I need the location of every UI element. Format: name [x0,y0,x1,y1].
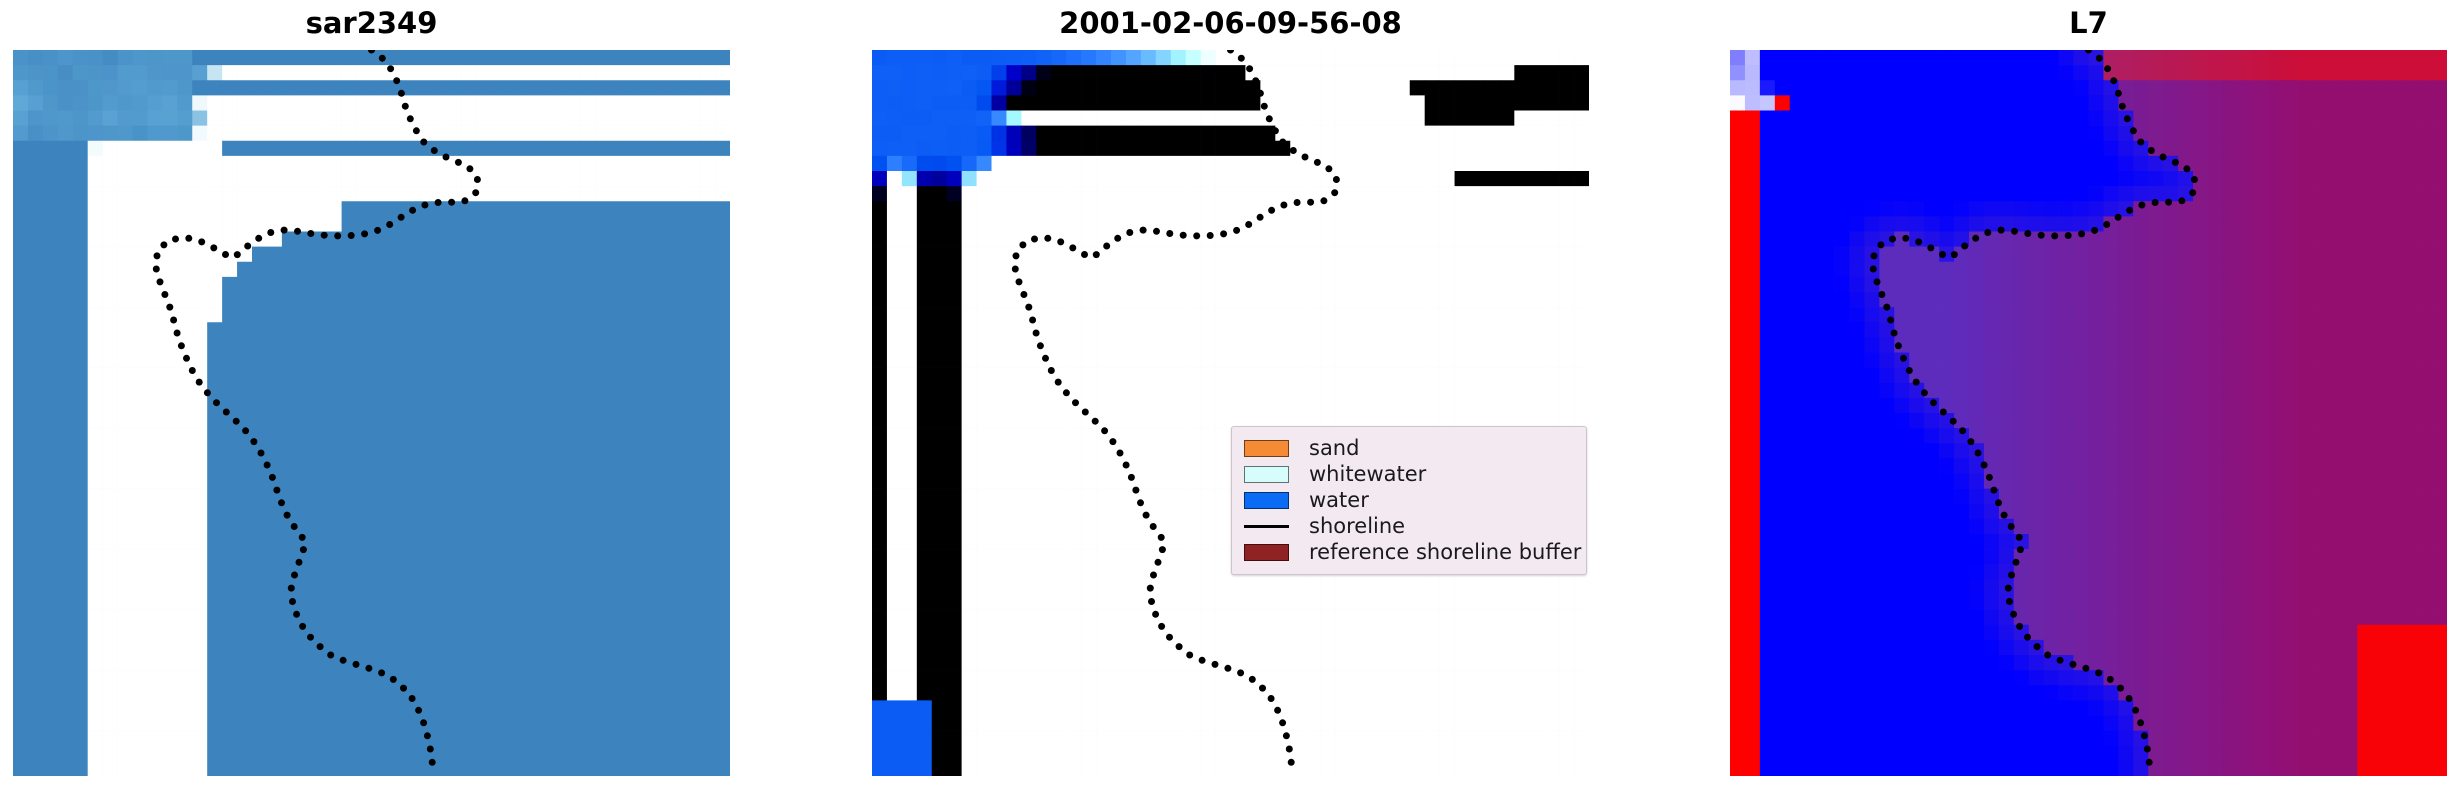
legend-label-shoreline: shoreline [1309,514,1405,538]
image-axes-sar2349 [13,50,730,776]
legend-swatch-whitewater [1244,466,1289,483]
legend-line-glyph [1244,525,1289,528]
image-axes-classified [872,50,1589,776]
panel-title-classified: 2001-02-06-09-56-08 [872,6,1589,40]
legend-swatch-water [1244,492,1289,509]
legend-label-reference-shoreline-buffer: reference shoreline buffer [1309,540,1581,564]
legend-label-water: water [1309,488,1369,512]
legend-item-shoreline: shoreline [1244,513,1574,539]
legend-line-shoreline [1244,518,1289,535]
sar-raster-image [13,50,730,776]
legend-swatch-reference-buffer [1244,544,1289,561]
legend-item-whitewater: whitewater [1244,461,1574,487]
legend-item-water: water [1244,487,1574,513]
legend-label-whitewater: whitewater [1309,462,1426,486]
image-axes-l7 [1730,50,2447,776]
figure-canvas: sar2349 2001-02-06-09-56-08 L7 sand whit… [0,0,2460,796]
legend-item-reference-shoreline-buffer: reference shoreline buffer [1244,539,1574,565]
panel-title-sar2349: sar2349 [13,6,730,40]
l7-index-raster-image [1730,50,2447,776]
legend-item-sand: sand [1244,435,1574,461]
panel-title-l7: L7 [1730,6,2447,40]
legend-box: sand whitewater water shoreline referenc… [1231,426,1587,575]
classification-raster-image [872,50,1589,776]
legend-swatch-sand [1244,440,1289,457]
legend-label-sand: sand [1309,436,1359,460]
